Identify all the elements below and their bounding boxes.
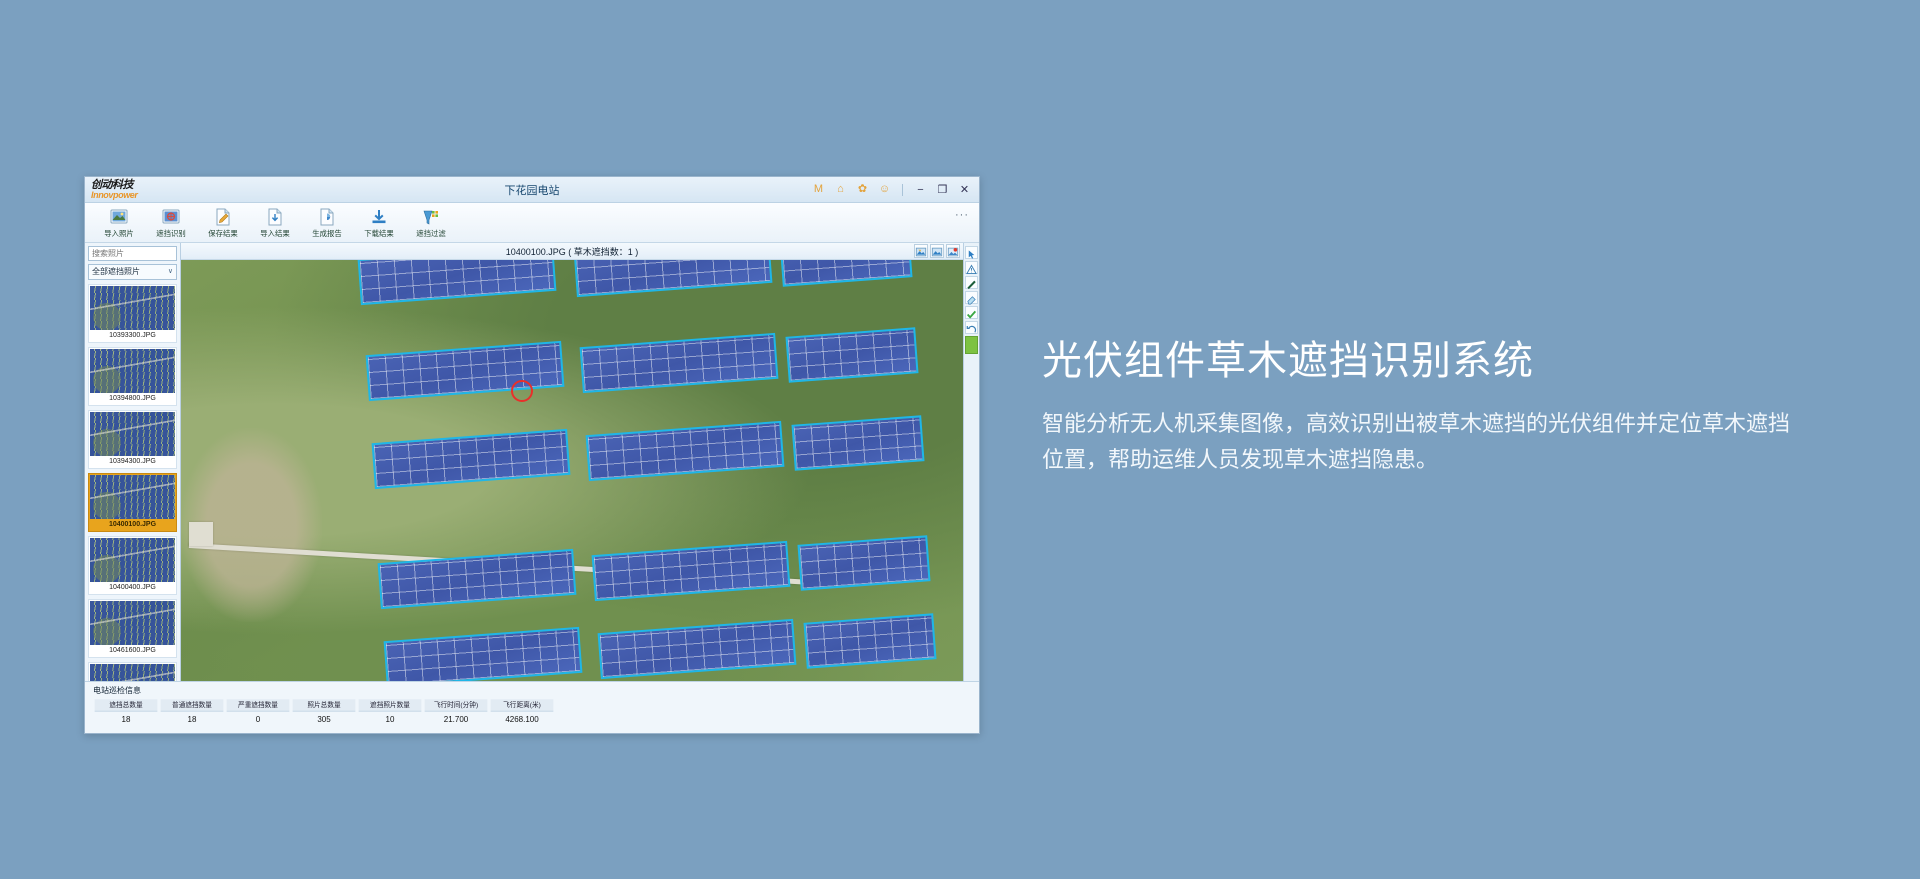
stat-value: 4268.100: [489, 712, 555, 724]
toolbar-button-import-photo[interactable]: 导入照片: [93, 207, 145, 239]
search-input[interactable]: [88, 246, 177, 261]
warning-triangle-icon: [966, 264, 977, 275]
close-button[interactable]: ✕: [958, 183, 971, 196]
toolbar-label: 导入照片: [104, 228, 133, 238]
minimize-button[interactable]: −: [914, 184, 927, 196]
thumbnail-image: [90, 601, 175, 645]
stat-value: 10: [357, 712, 423, 724]
undo-arrow-icon: [966, 324, 977, 335]
thumbnail-item-selected[interactable]: 10400100.JPG: [88, 473, 177, 532]
stat-header: 遮挡照片数量: [359, 699, 422, 711]
obstruction-marker[interactable]: [511, 380, 533, 402]
pv-detection-box[interactable]: [785, 327, 918, 382]
stat-column: 遮挡照片数量 10: [357, 699, 423, 724]
eraser-tool[interactable]: [965, 291, 978, 304]
stat-column: 飞行时间(分钟) 21.700: [423, 699, 489, 724]
thumbnail-filename: 10393300.JPG: [90, 330, 175, 341]
image-viewer-panel: 10400100.JPG ( 草木遮挡数：1 ): [181, 243, 963, 681]
stat-column: 严重遮挡数量 0: [225, 699, 291, 724]
toolbar-label: 保存结果: [208, 228, 237, 238]
toolbar-button-download-result[interactable]: 下载结果: [353, 207, 405, 239]
toolbar-label: 下载结果: [364, 228, 393, 238]
thumbnail-image: [90, 412, 175, 456]
undo-tool[interactable]: [965, 321, 978, 334]
thumbnail-item[interactable]: 10394300.JPG: [88, 410, 177, 469]
filter-selected-value: 全部遮挡照片: [92, 265, 140, 279]
thumbnail-item[interactable]: 10393300.JPG: [88, 284, 177, 343]
stat-column: 普通遮挡数量 18: [159, 699, 225, 724]
eraser-icon: [966, 294, 977, 305]
stat-header: 飞行时间(分钟): [425, 699, 488, 711]
save-result-icon: [213, 207, 233, 227]
next-image-button[interactable]: [930, 244, 944, 258]
next-image-icon: [931, 246, 943, 258]
promo-title: 光伏组件草木遮挡识别系统: [1042, 338, 1832, 384]
toolbar-overflow-button[interactable]: ···: [955, 209, 969, 221]
title-bar-controls: M ⌂ ✿ ☺ − ❐ ✕: [812, 183, 979, 196]
aerial-photo: [181, 260, 963, 681]
aerial-image-canvas[interactable]: [181, 260, 963, 681]
pv-detection-box[interactable]: [791, 415, 924, 470]
stat-column: 飞行距离(米) 4268.100: [489, 699, 555, 724]
promo-description: 智能分析无人机采集图像，高效识别出被草木遮挡的光伏组件并定位草木遮挡位置，帮助运…: [1042, 406, 1802, 477]
thumbnail-item[interactable]: 10394800.JPG: [88, 347, 177, 406]
window-body: 全部遮挡照片 ∨ 10393300.JPG 10394800.JPG 10394…: [85, 243, 979, 681]
home-icon[interactable]: ⌂: [834, 183, 847, 196]
thumbnail-list[interactable]: 10393300.JPG 10394800.JPG 10394300.JPG 1…: [88, 284, 177, 681]
title-bar: 创动科技 Innovpower 下花园电站 M ⌂ ✿ ☺ − ❐ ✕: [85, 177, 979, 203]
prev-image-icon: [915, 246, 927, 258]
thumbnail-filename: 10394800.JPG: [90, 393, 175, 404]
filter-obstruction-icon: [421, 207, 441, 227]
pv-detection-box[interactable]: [803, 613, 936, 668]
application-window: 创动科技 Innovpower 下花园电站 M ⌂ ✿ ☺ − ❐ ✕ 导入照片: [84, 176, 980, 734]
color-swatch-tool[interactable]: [965, 336, 978, 354]
check-icon: [966, 309, 977, 320]
stat-header: 飞行距离(米): [491, 699, 554, 711]
stat-header: 普通遮挡数量: [161, 699, 224, 711]
stat-value: 21.700: [423, 712, 489, 724]
stat-column: 照片总数量 305: [291, 699, 357, 724]
polygon-select-icon: [966, 279, 977, 290]
stat-header: 严重遮挡数量: [227, 699, 290, 711]
thumbnail-item[interactable]: 10461600.JPG: [88, 599, 177, 658]
toolbar-label: 生成报告: [312, 228, 341, 238]
prev-image-button[interactable]: [914, 244, 928, 258]
image-header-actions: [914, 244, 963, 258]
photo-sidebar: 全部遮挡照片 ∨ 10393300.JPG 10394800.JPG 10394…: [85, 243, 181, 681]
stat-column: 遮挡总数量 18: [93, 699, 159, 724]
stat-header: 遮挡总数量: [95, 699, 158, 711]
import-result-icon: [265, 207, 285, 227]
stat-header: 照片总数量: [293, 699, 356, 711]
warning-tool[interactable]: [965, 261, 978, 274]
photo-filter-dropdown[interactable]: 全部遮挡照片 ∨: [88, 264, 177, 280]
image-header-bar: 10400100.JPG ( 草木遮挡数：1 ): [181, 243, 963, 260]
inspection-info-panel: 电站巡检信息 遮挡总数量 18 普通遮挡数量 18 严重遮挡数量 0 照片总数量…: [85, 681, 979, 733]
thumbnail-image: [90, 475, 175, 519]
access-road-branch: [189, 522, 213, 546]
import-photo-icon: [109, 207, 129, 227]
image-title: 10400100.JPG ( 草木遮挡数：1 ): [181, 245, 963, 258]
thumbnail-image: [90, 538, 175, 582]
stat-value: 18: [93, 712, 159, 724]
thumbnail-filename: 10394300.JPG: [90, 456, 175, 467]
thumbnail-image: [90, 664, 175, 681]
thumbnail-filename: 10400100.JPG: [90, 519, 175, 530]
download-result-icon: [369, 207, 389, 227]
toolbar-label: 导入结果: [260, 228, 289, 238]
select-arrow-tool[interactable]: [965, 246, 978, 259]
stat-value: 305: [291, 712, 357, 724]
thumbnail-filename: 10400400.JPG: [90, 582, 175, 593]
toolbar-button-import-result[interactable]: 导入结果: [249, 207, 301, 239]
stat-value: 0: [225, 712, 291, 724]
thumbnail-image: [90, 286, 175, 330]
thumbnail-item[interactable]: 10461300.JPG: [88, 662, 177, 681]
stat-value: 18: [159, 712, 225, 724]
toolbar-label: 遮挡过滤: [416, 228, 445, 238]
detect-obstruction-icon: [161, 207, 181, 227]
user-icon[interactable]: ☺: [878, 183, 891, 196]
polygon-tool[interactable]: [965, 276, 978, 289]
cursor-arrow-icon: [966, 249, 977, 260]
pv-detection-box[interactable]: [797, 535, 930, 590]
generate-report-icon: [317, 207, 337, 227]
toolbar-button-detect-obstruction[interactable]: 遮挡识别: [145, 207, 197, 239]
promo-section: 光伏组件草木遮挡识别系统 智能分析无人机采集图像，高效识别出被草木遮挡的光伏组件…: [1042, 338, 1832, 477]
divider: [902, 184, 903, 196]
thumbnail-filename: 10461600.JPG: [90, 645, 175, 656]
chevron-down-icon: ∨: [168, 265, 173, 279]
message-icon[interactable]: M: [812, 183, 825, 196]
info-panel-title: 电站巡检信息: [93, 685, 979, 696]
locate-button[interactable]: [946, 244, 960, 258]
thumbnail-item[interactable]: 10400400.JPG: [88, 536, 177, 595]
toolbar-button-generate-report[interactable]: 生成报告: [301, 207, 353, 239]
info-stats-table: 遮挡总数量 18 普通遮挡数量 18 严重遮挡数量 0 照片总数量 305 遮挡…: [93, 699, 979, 724]
toolbar-label: 遮挡识别: [156, 228, 185, 238]
annotation-toolbar: [963, 243, 979, 681]
toolbar-button-save-result[interactable]: 保存结果: [197, 207, 249, 239]
maximize-button[interactable]: ❐: [936, 183, 949, 196]
toolbar-button-filter-obstruction[interactable]: 遮挡过滤: [405, 207, 457, 239]
gear-icon[interactable]: ✿: [856, 183, 869, 196]
confirm-check-tool[interactable]: [965, 306, 978, 319]
thumbnail-image: [90, 349, 175, 393]
location-pin-icon: [947, 246, 959, 258]
main-toolbar: 导入照片 遮挡识别 保存结果 导入结果: [85, 203, 979, 243]
